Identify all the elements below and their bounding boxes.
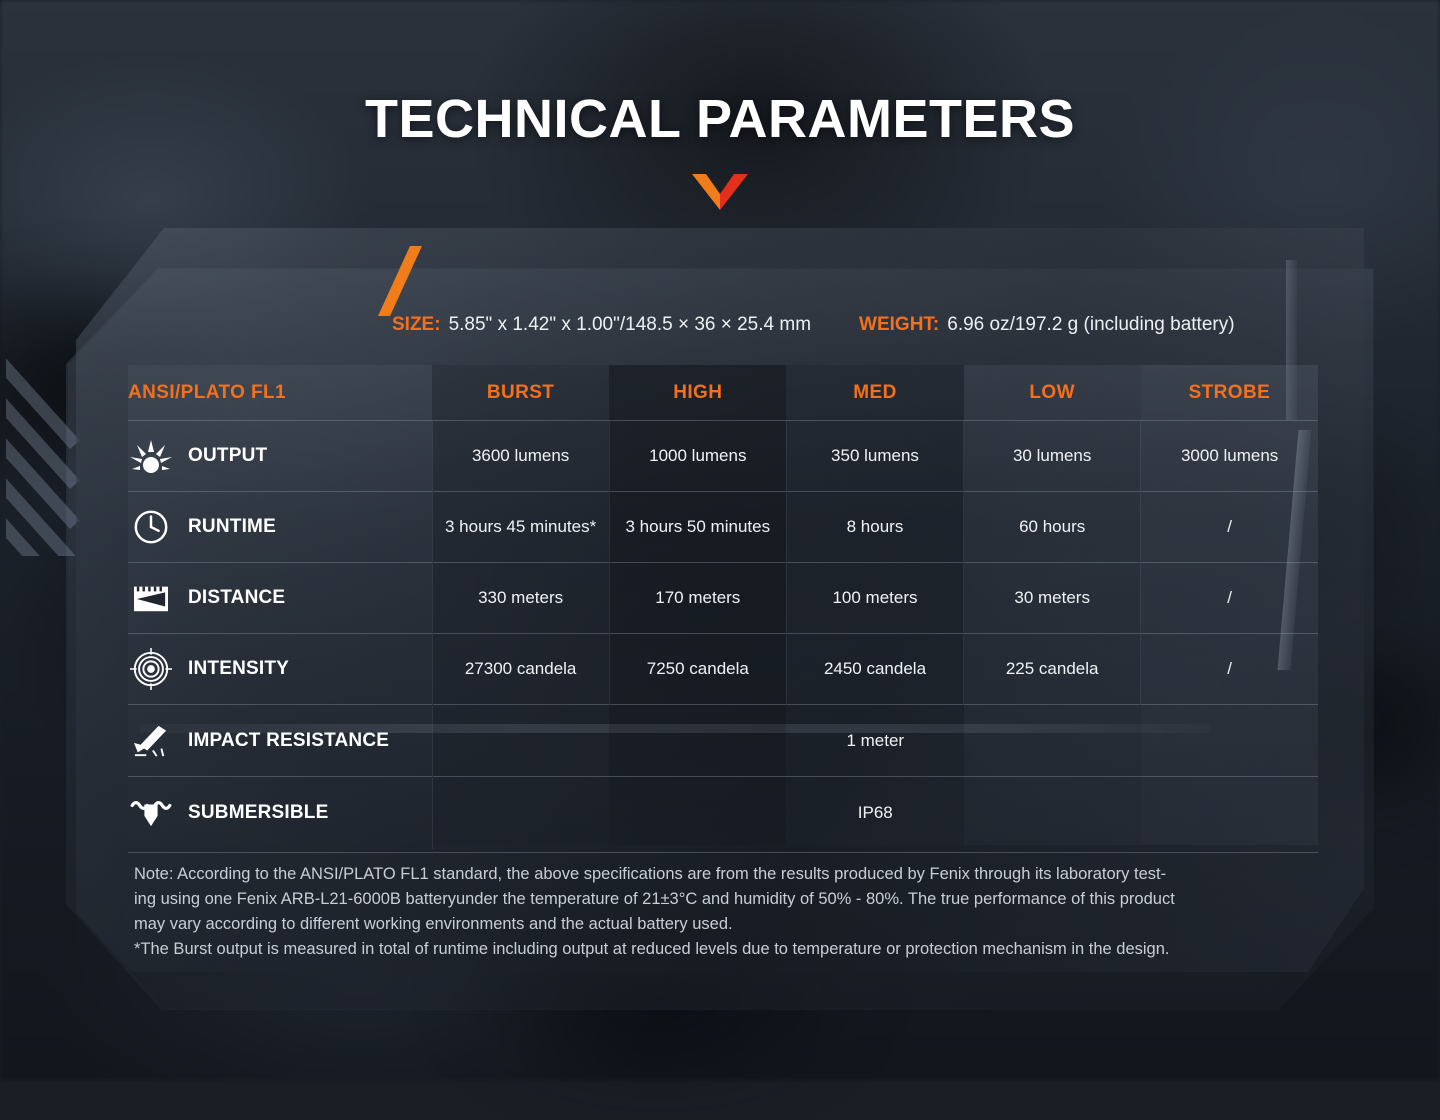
table-row: SUBMERSIBLE IP68 xyxy=(128,777,1318,849)
cell-output-med: 350 lumens xyxy=(786,421,963,492)
cell-distance-burst: 330 meters xyxy=(432,563,609,634)
table-header: ANSI/PLATO FL1 BURST HIGH MED LOW STROBE xyxy=(128,365,1318,421)
table-row: RUNTIME 3 hours 45 minutes* 3 hours 50 m… xyxy=(128,492,1318,563)
cell-runtime-burst: 3 hours 45 minutes* xyxy=(432,492,609,563)
page-title: TECHNICAL PARAMETERS xyxy=(0,92,1440,146)
spec-table: ANSI/PLATO FL1 BURST HIGH MED LOW STROBE xyxy=(128,365,1318,849)
row-label-text: INTENSITY xyxy=(188,658,289,680)
size-group: SIZE:5.85" x 1.42" x 1.00"/148.5 × 36 × … xyxy=(392,314,811,336)
row-label-text: DISTANCE xyxy=(188,587,285,609)
beam-distance-icon xyxy=(128,578,174,618)
cell-intensity-med: 2450 candela xyxy=(786,634,963,705)
size-weight-line: SIZE:5.85" x 1.42" x 1.00"/148.5 × 36 × … xyxy=(76,308,1364,342)
column-header-high: HIGH xyxy=(609,365,786,421)
cell-intensity-low: 225 candela xyxy=(964,634,1141,705)
cell-output-high: 1000 lumens xyxy=(609,421,786,492)
row-label-distance: DISTANCE xyxy=(128,563,432,634)
cell-impact-resistance-value: 1 meter xyxy=(432,705,1318,777)
cell-distance-med: 100 meters xyxy=(786,563,963,634)
cell-output-strobe: 3000 lumens xyxy=(1141,421,1318,492)
cell-intensity-burst: 27300 candela xyxy=(432,634,609,705)
note-separator xyxy=(128,852,1318,853)
cell-runtime-high: 3 hours 50 minutes xyxy=(609,492,786,563)
row-label-text: IMPACT RESISTANCE xyxy=(188,730,389,752)
cell-runtime-med: 8 hours xyxy=(786,492,963,563)
table-row: OUTPUT 3600 lumens 1000 lumens 350 lumen… xyxy=(128,421,1318,492)
table-row: INTENSITY 27300 candela 7250 candela 245… xyxy=(128,634,1318,705)
row-label-text: RUNTIME xyxy=(188,516,276,538)
row-label-impact-resistance: IMPACT RESISTANCE xyxy=(128,705,432,777)
table-body: OUTPUT 3600 lumens 1000 lumens 350 lumen… xyxy=(128,421,1318,849)
title-block: TECHNICAL PARAMETERS xyxy=(0,92,1440,210)
chevron-down-icon xyxy=(692,174,748,210)
cell-submersible-value: IP68 xyxy=(432,777,1318,849)
cell-output-burst: 3600 lumens xyxy=(432,421,609,492)
cell-distance-low: 30 meters xyxy=(964,563,1141,634)
cell-distance-strobe: / xyxy=(1141,563,1318,634)
cell-distance-high: 170 meters xyxy=(609,563,786,634)
target-intensity-icon xyxy=(128,649,174,689)
footnote: Note: According to the ANSI/PLATO FL1 st… xyxy=(134,862,1324,962)
header-row: ANSI/PLATO FL1 BURST HIGH MED LOW STROBE xyxy=(128,365,1318,421)
cell-runtime-low: 60 hours xyxy=(964,492,1141,563)
column-header-strobe: STROBE xyxy=(1141,365,1318,421)
clock-icon xyxy=(128,507,174,547)
size-value: 5.85" x 1.42" x 1.00"/148.5 × 36 × 25.4 … xyxy=(449,314,811,335)
cell-intensity-strobe: / xyxy=(1141,634,1318,705)
row-label-intensity: INTENSITY xyxy=(128,634,432,705)
row-label-text: OUTPUT xyxy=(188,445,267,467)
weight-label: WEIGHT: xyxy=(859,314,939,335)
footnote-line-1: Note: According to the ANSI/PLATO FL1 st… xyxy=(134,862,1324,887)
footnote-line-2: ing using one Fenix ARB-L21-6000B batter… xyxy=(134,887,1324,912)
row-label-runtime: RUNTIME xyxy=(128,492,432,563)
column-header-low: LOW xyxy=(964,365,1141,421)
footnote-line-4: *The Burst output is measured in total o… xyxy=(134,937,1324,962)
row-label-output: OUTPUT xyxy=(128,421,432,492)
table-row: IMPACT RESISTANCE 1 meter xyxy=(128,705,1318,777)
cell-intensity-high: 7250 candela xyxy=(609,634,786,705)
row-label-text: SUBMERSIBLE xyxy=(188,802,329,824)
weight-value: 6.96 oz/197.2 g (including battery) xyxy=(947,314,1234,335)
column-header-burst: BURST xyxy=(432,365,609,421)
column-header-med: MED xyxy=(786,365,963,421)
weight-group: WEIGHT:6.96 oz/197.2 g (including batter… xyxy=(859,314,1235,336)
column-header-standard: ANSI/PLATO FL1 xyxy=(128,365,432,421)
footnote-line-3: may vary according to different working … xyxy=(134,912,1324,937)
size-label: SIZE: xyxy=(392,314,441,335)
row-label-submersible: SUBMERSIBLE xyxy=(128,777,432,849)
cell-runtime-strobe: / xyxy=(1141,492,1318,563)
submersible-icon xyxy=(128,793,174,833)
cell-output-low: 30 lumens xyxy=(964,421,1141,492)
table-row: DISTANCE 330 meters 170 meters 100 meter… xyxy=(128,563,1318,634)
impact-drop-icon xyxy=(128,721,174,761)
sunburst-icon xyxy=(128,436,174,476)
